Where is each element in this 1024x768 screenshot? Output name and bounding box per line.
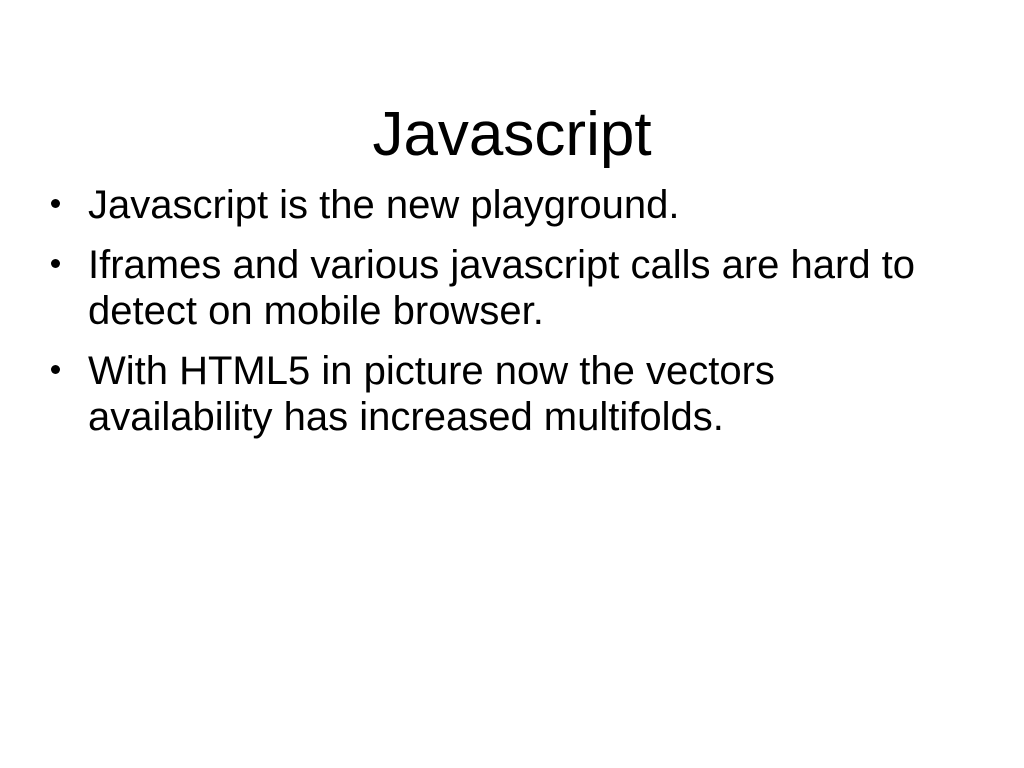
bullet-dot-icon (51, 365, 60, 374)
bullet-dot-icon (51, 199, 60, 208)
presentation-slide: Javascript Javascript is the new playgro… (0, 0, 1024, 768)
bullet-dot-icon (51, 259, 60, 268)
bullet-list-item: Iframes and various javascript calls are… (44, 242, 984, 334)
bullet-list-item: With HTML5 in picture now the vectors av… (44, 348, 984, 440)
bullet-item-text: Javascript is the new playground. (88, 182, 984, 228)
bullet-item-text: With HTML5 in picture now the vectors av… (88, 348, 818, 440)
bullet-item-text: Iframes and various javascript calls are… (88, 242, 948, 334)
bullet-list: Javascript is the new playground. Iframe… (44, 182, 984, 440)
bullet-list-item: Javascript is the new playground. (44, 182, 984, 228)
slide-title: Javascript (0, 100, 1024, 170)
